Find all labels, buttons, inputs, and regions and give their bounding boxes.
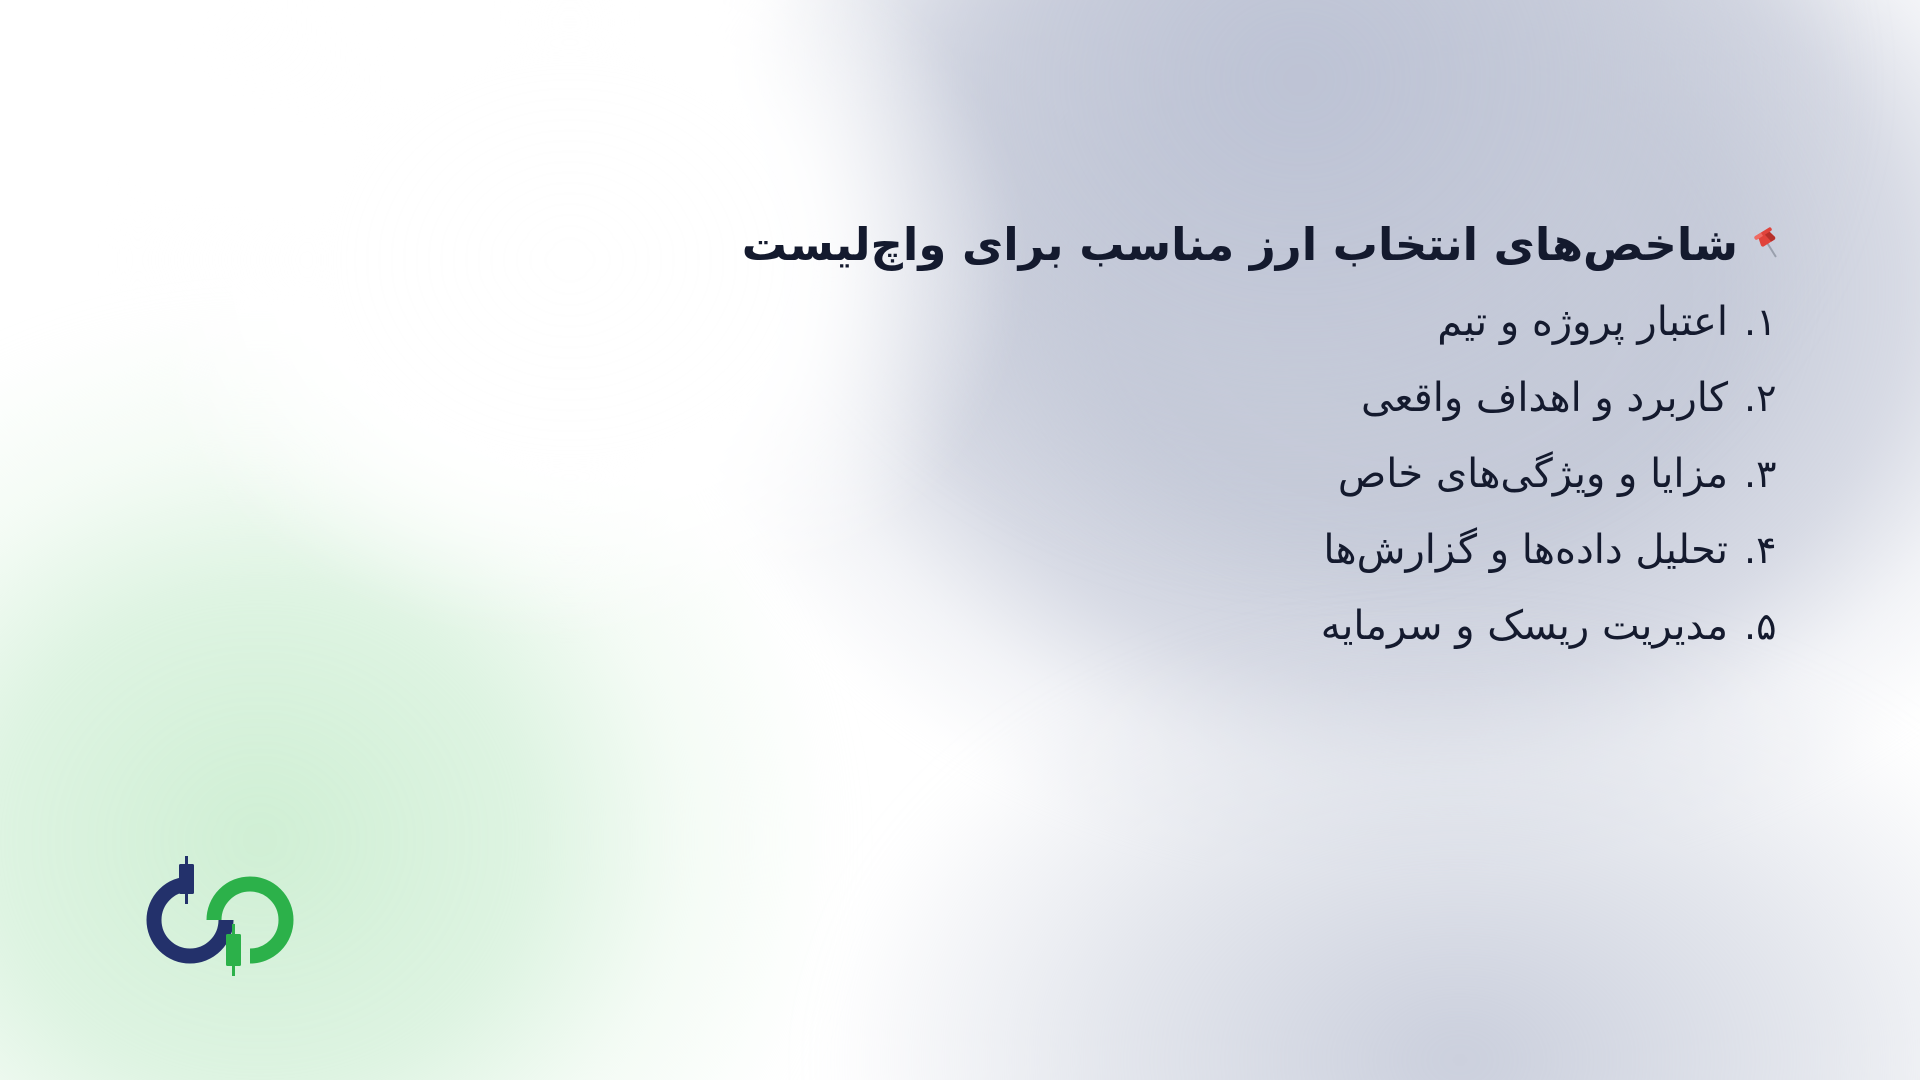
list-item: ۱. اعتبار پروژه و تیم <box>420 302 1790 342</box>
list-item-label: کاربرد و اهداف واقعی <box>1361 378 1728 418</box>
list-item-number: ۲. <box>1744 379 1790 417</box>
indicator-list: ۱. اعتبار پروژه و تیم ۲. کاربرد و اهداف … <box>420 302 1790 646</box>
brand-logo <box>128 838 328 988</box>
list-item: ۴. تحلیل داده‌ها و گزارش‌ها <box>420 530 1790 570</box>
logo-navy-candle <box>179 864 194 894</box>
list-item-number: ۵. <box>1744 607 1790 645</box>
slide-content: شاخص‌های انتخاب ارز مناسب برای واچ‌لیست … <box>420 215 1790 646</box>
slide-canvas: شاخص‌های انتخاب ارز مناسب برای واچ‌لیست … <box>0 0 1920 1080</box>
page-title-text: شاخص‌های انتخاب ارز مناسب برای واچ‌لیست <box>742 215 1738 276</box>
list-item: ۵. مدیریت ریسک و سرمایه <box>420 606 1790 646</box>
list-item-number: ۱. <box>1744 303 1790 341</box>
pushpin-icon <box>1748 222 1790 264</box>
list-item: ۲. کاربرد و اهداف واقعی <box>420 378 1790 418</box>
list-item-label: تحلیل داده‌ها و گزارش‌ها <box>1323 530 1728 570</box>
list-item: ۳. مزایا و ویژگی‌های خاص <box>420 454 1790 494</box>
list-item-label: مدیریت ریسک و سرمایه <box>1321 606 1728 646</box>
background-blob-grey-lower <box>820 610 1920 1080</box>
list-item-label: اعتبار پروژه و تیم <box>1437 302 1728 342</box>
list-item-number: ۴. <box>1744 531 1790 569</box>
list-item-label: مزایا و ویژگی‌های خاص <box>1338 454 1728 494</box>
list-item-number: ۳. <box>1744 455 1790 493</box>
page-title: شاخص‌های انتخاب ارز مناسب برای واچ‌لیست <box>420 215 1790 276</box>
logo-green-candle <box>226 934 241 966</box>
